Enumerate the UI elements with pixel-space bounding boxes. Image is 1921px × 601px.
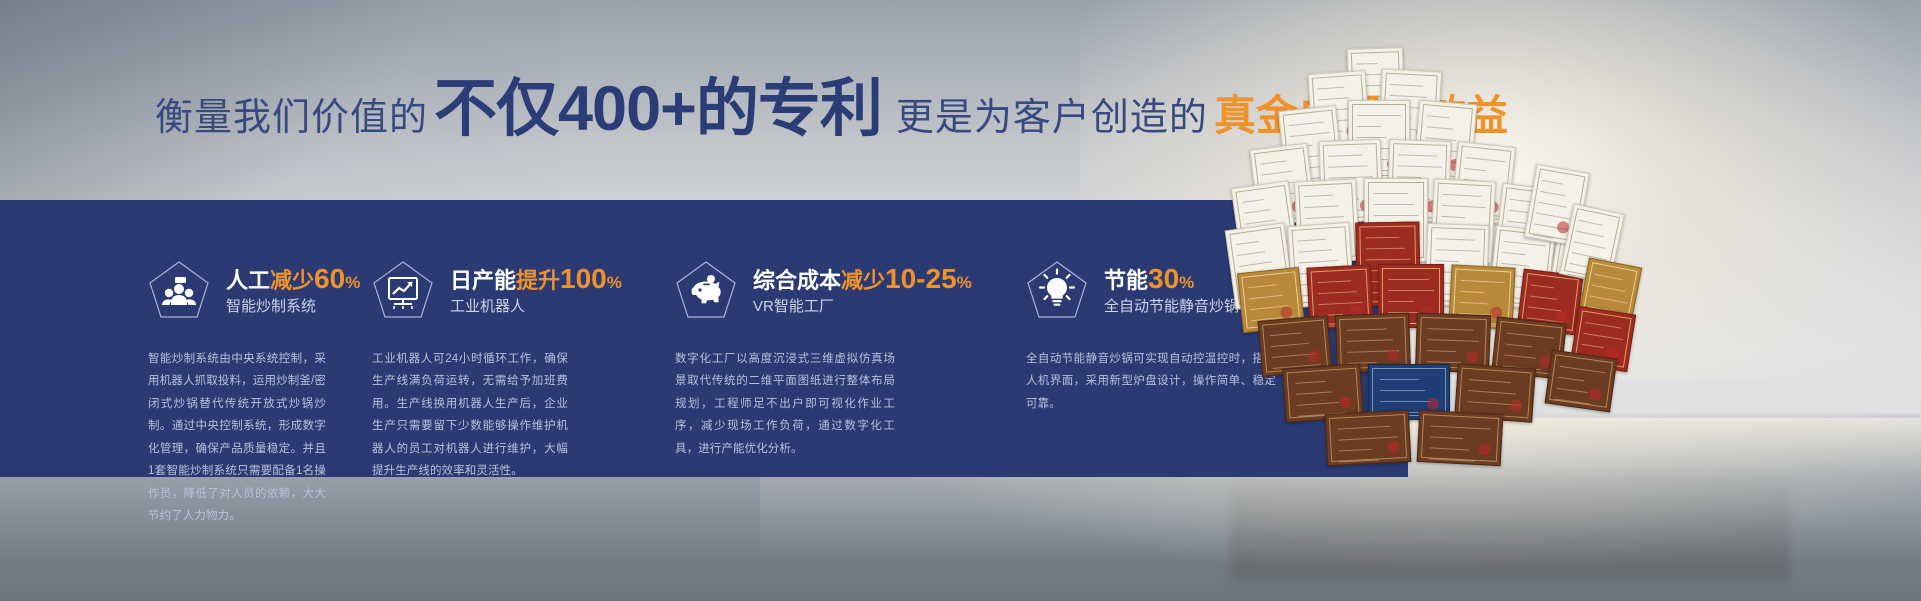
feature-4-title-number: 30 <box>1148 263 1179 294</box>
feature-3-title-unit: % <box>957 273 972 292</box>
feature-2-subtitle: 工业机器人 <box>450 298 622 316</box>
feature-4-titles: 节能30% 全自动节能静音炒锅 <box>1104 265 1239 316</box>
feature-1-title-prefix: 人工 <box>226 268 270 293</box>
banner-stage: 衡量我们价值的 不仅400+的专利 更是为客户创造的 真金白银的效益 <box>0 0 1921 601</box>
certificate-text-line <box>1357 115 1400 116</box>
feature-4-paragraph: 全自动节能静音炒锅可实现自动控温控时，搭配人机界面，采用新型炉盘设计，操作简单、… <box>1026 348 1276 415</box>
feature-3-title: 综合成本减少10-25% <box>753 265 972 293</box>
headline-middle: 更是为客户创造的 <box>896 86 1208 141</box>
certificate-text-line <box>1357 137 1386 138</box>
chart-board-icon <box>372 260 434 320</box>
certificate-text-line <box>1388 279 1429 280</box>
feature-4-title: 节能30% <box>1104 265 1239 293</box>
certificate-text-line <box>1357 126 1381 127</box>
certificate-item <box>1545 350 1618 413</box>
feature-2-title-hilite: 提升 <box>516 268 560 293</box>
headline-lead: 衡量我们价值的 <box>155 86 428 141</box>
feature-2-title-unit: % <box>607 273 622 292</box>
feature-2-title-prefix: 日产能 <box>450 268 516 293</box>
certificate-item <box>1325 410 1412 466</box>
feature-2-title-number: 100 <box>560 263 607 294</box>
feature-1-title-hilite: 减少 <box>270 268 314 293</box>
certificate-seal <box>1427 398 1439 410</box>
certificate-text-line <box>1374 204 1414 205</box>
feature-3-subtitle: VR智能工厂 <box>753 298 972 316</box>
feature-block-1: 人工减少60% 智能炒制系统 智能炒制系统由中央系统控制，采用机器人抓取投料，运… <box>0 200 330 477</box>
feature-2-titles: 日产能提升100% 工业机器人 <box>450 265 622 316</box>
feature-3-titles: 综合成本减少10-25% VR智能工厂 <box>753 265 972 316</box>
feature-3-paragraph: 数字化工厂以高度沉浸式三维虚拟仿真场景取代传统的二维平面图纸进行整体布局规划，工… <box>675 348 895 460</box>
certificate-text-line <box>1388 290 1434 291</box>
feature-4-title-unit: % <box>1179 273 1194 292</box>
lightbulb-icon <box>1026 260 1088 320</box>
feature-4-subtitle: 全自动节能静音炒锅 <box>1104 298 1239 316</box>
feature-3-title-number: 10-25 <box>885 263 957 294</box>
group-people-icon <box>148 260 210 320</box>
feature-3-title-prefix: 综合成本 <box>753 268 841 293</box>
feature-2-title: 日产能提升100% <box>450 265 622 293</box>
certificate-text-line <box>1380 379 1418 380</box>
feature-4-title-prefix: 节能 <box>1104 268 1148 293</box>
certificate-item <box>1417 410 1504 466</box>
feature-2-paragraph: 工业机器人可24小时循环工作，确保生产线满负荷运转，无需给予加班费用。生产线换用… <box>372 348 568 483</box>
certificate-text-line <box>1374 193 1409 194</box>
certificate-text-line <box>1380 401 1431 402</box>
certificate-text-line <box>1388 301 1414 302</box>
certificate-text-line <box>1380 390 1425 391</box>
feature-panel: 人工减少60% 智能炒制系统 智能炒制系统由中央系统控制，采用机器人抓取投料，运… <box>0 200 1408 477</box>
piggy-bank-icon <box>675 260 737 320</box>
feature-1-header: 人工减少60% 智能炒制系统 <box>148 260 330 320</box>
feature-3-header: 综合成本减少10-25% VR智能工厂 <box>675 260 980 320</box>
feature-2-header: 日产能提升100% 工业机器人 <box>372 260 630 320</box>
certificate-text-line <box>1374 215 1419 216</box>
feature-block-3: 综合成本减少10-25% VR智能工厂 数字化工厂以高度沉浸式三维虚拟仿真场景取… <box>630 200 980 477</box>
feature-block-2: 日产能提升100% 工业机器人 工业机器人可24小时循环工作，确保生产线满负荷运… <box>330 200 630 477</box>
feature-3-title-hilite: 减少 <box>841 268 885 293</box>
certificate-wall-reflection <box>1230 470 1790 580</box>
feature-1-paragraph: 智能炒制系统由中央系统控制，采用机器人抓取投料，运用炒制釜/密闭式炒锅替代传统开… <box>148 348 326 527</box>
headline-emphasis: 不仅400+的专利 <box>434 78 882 141</box>
